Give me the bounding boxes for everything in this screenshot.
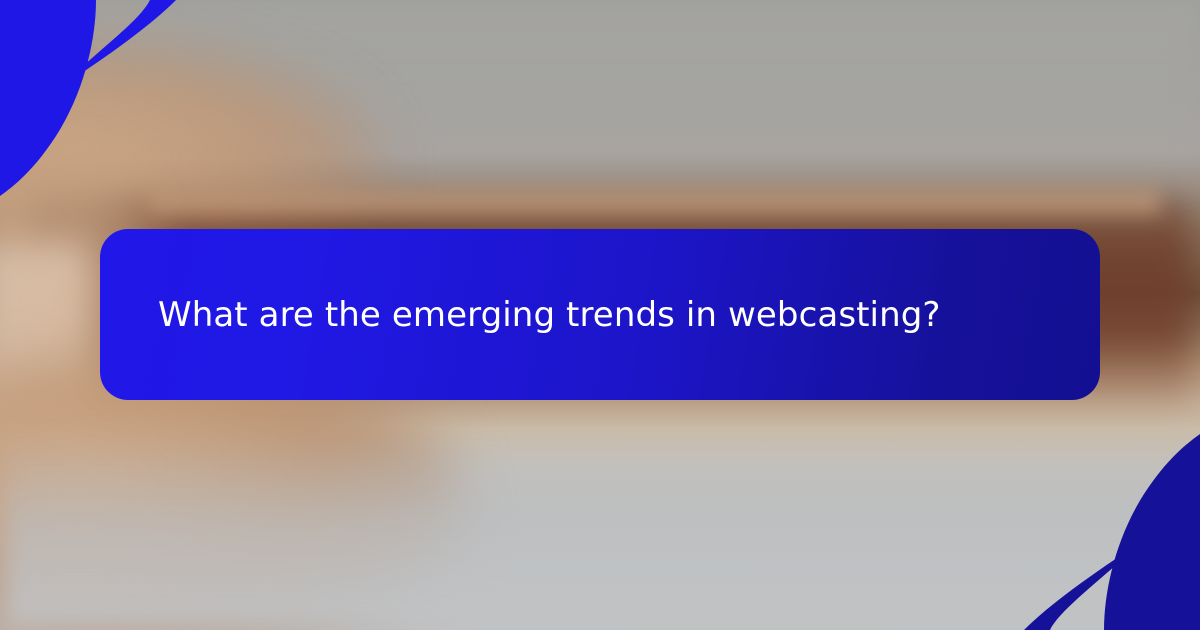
share-card-canvas: What are the emerging trends in webcasti… bbox=[0, 0, 1200, 630]
question-card: What are the emerging trends in webcasti… bbox=[100, 229, 1100, 400]
background-object-edge bbox=[150, 182, 1160, 218]
question-text: What are the emerging trends in webcasti… bbox=[158, 294, 941, 336]
background-bottom-haze bbox=[0, 430, 1200, 630]
